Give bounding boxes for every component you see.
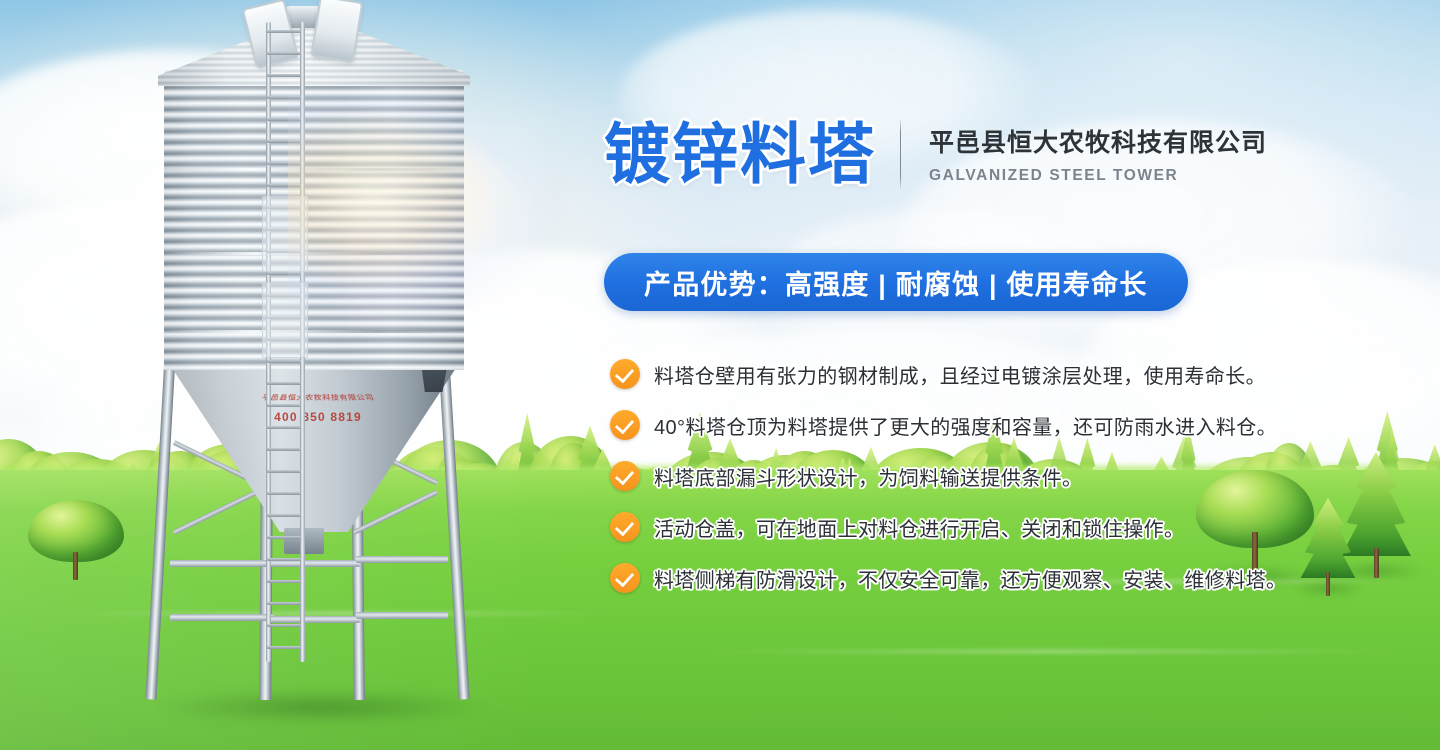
tree-trunk xyxy=(1326,572,1330,596)
silo-hoop xyxy=(164,252,464,255)
product-image-silo: 平邑县恒大农牧科技有限公司 400 850 8819 xyxy=(88,0,508,750)
silo-ground-shadow xyxy=(158,690,488,724)
silo-ladder-rung xyxy=(267,272,301,275)
feature-item: 活动仓盖，可在地面上对料仓进行开启、关闭和锁住操作。 xyxy=(610,511,1310,543)
silo-ladder-rung xyxy=(267,448,301,451)
silo-rail xyxy=(268,616,360,623)
silo-cone-phone-text: 400 850 8819 xyxy=(238,410,398,424)
silo-ladder-rung xyxy=(267,492,301,495)
company-name: 平邑县恒大农牧科技有限公司 xyxy=(929,123,1267,159)
check-circle-icon xyxy=(610,563,640,593)
company-block: 平邑县恒大农牧科技有限公司 GALVANIZED STEEL TOWER xyxy=(929,123,1267,185)
hero-banner: 平邑县恒大农牧科技有限公司 400 850 8819 镀锌料塔 平邑县恒大农 xyxy=(0,0,1440,750)
silo-rail xyxy=(170,614,274,621)
silo-ladder-rung xyxy=(267,514,301,517)
banner-content: 镀锌料塔 平邑县恒大农牧科技有限公司 GALVANIZED STEEL TOWE… xyxy=(604,0,1304,750)
feature-text: 料塔侧梯有防滑设计，不仅安全可靠，还方便观察、安装、维修料塔。 xyxy=(654,564,1286,593)
silo-ladder-rung xyxy=(267,580,301,583)
headline-row: 镀锌料塔 平邑县恒大农牧科技有限公司 GALVANIZED STEEL TOWE… xyxy=(604,118,1267,190)
silo-ladder-rung xyxy=(267,426,301,429)
silo-ladder-rung xyxy=(267,624,301,627)
silo-ladder-rung xyxy=(267,30,301,33)
feature-item: 料塔底部漏斗形状设计，为饲料输送提供条件。 xyxy=(610,460,1310,492)
silo-ladder-rung xyxy=(267,118,301,121)
feature-list: 料塔仓壁用有张力的钢材制成，且经过电镀涂层处理，使用寿命长。40°料塔仓顶为料塔… xyxy=(610,358,1310,613)
silo-ladder-rung xyxy=(267,74,301,77)
feature-text: 40°料塔仓顶为料塔提供了更大的强度和容量，还可防雨水进入料仓。 xyxy=(654,411,1277,440)
page-title: 镀锌料塔 xyxy=(604,121,876,187)
tree-trunk xyxy=(73,552,78,580)
feature-text: 活动仓盖，可在地面上对料仓进行开启、关闭和锁住操作。 xyxy=(654,513,1184,542)
feature-text: 料塔底部漏斗形状设计，为饲料输送提供条件。 xyxy=(654,462,1082,491)
silo-ladder-rung xyxy=(267,470,301,473)
check-circle-icon xyxy=(610,410,640,440)
silo-ladder-rung xyxy=(267,536,301,539)
product-advantages-text: 产品优势：高强度 | 耐腐蚀 | 使用寿命长 xyxy=(644,263,1148,302)
check-circle-icon xyxy=(610,359,640,389)
silo-ladder-rung xyxy=(267,602,301,605)
check-circle-icon xyxy=(610,461,640,491)
silo-hoop xyxy=(164,330,464,333)
tree-trunk xyxy=(1374,548,1379,578)
silo-ladder-rung xyxy=(267,360,301,363)
check-circle-icon xyxy=(610,512,640,542)
feature-item: 料塔仓壁用有张力的钢材制成，且经过电镀涂层处理，使用寿命长。 xyxy=(610,358,1310,390)
silo-rail xyxy=(356,612,448,619)
silo-ladder-rung xyxy=(267,646,301,649)
silo-rail xyxy=(356,556,448,563)
silo-ladder-rung xyxy=(267,184,301,187)
title-divider xyxy=(900,118,901,190)
silo-cone-brand-text: 平邑县恒大农牧科技有限公司 xyxy=(235,393,401,402)
silo-ladder-rung xyxy=(267,404,301,407)
silo-rail xyxy=(170,560,274,567)
silo-leg xyxy=(145,330,177,700)
silo-ladder-rung xyxy=(267,382,301,385)
silo-ladder-rung xyxy=(267,52,301,55)
silo-ladder-cage xyxy=(262,196,308,272)
product-advantages-pill: 产品优势：高强度 | 耐腐蚀 | 使用寿命长 xyxy=(604,253,1188,311)
silo-body xyxy=(164,70,464,370)
silo-rail xyxy=(268,560,360,567)
silo-ladder-rung xyxy=(267,558,301,561)
silo-ladder-cage xyxy=(262,282,308,358)
feature-item: 40°料塔仓顶为料塔提供了更大的强度和容量，还可防雨水进入料仓。 xyxy=(610,409,1310,441)
silo-ladder-rung xyxy=(267,96,301,99)
silo-ladder-rung xyxy=(267,162,301,165)
company-subtitle-en: GALVANIZED STEEL TOWER xyxy=(929,167,1267,185)
silo-ladder-rung xyxy=(267,140,301,143)
silo-brace xyxy=(173,488,261,535)
silo-hoop xyxy=(164,168,464,171)
feature-text: 料塔仓壁用有张力的钢材制成，且经过电镀涂层处理，使用寿命长。 xyxy=(654,360,1266,389)
feature-item: 料塔侧梯有防滑设计，不仅安全可靠，还方便观察、安装、维修料塔。 xyxy=(610,562,1310,594)
